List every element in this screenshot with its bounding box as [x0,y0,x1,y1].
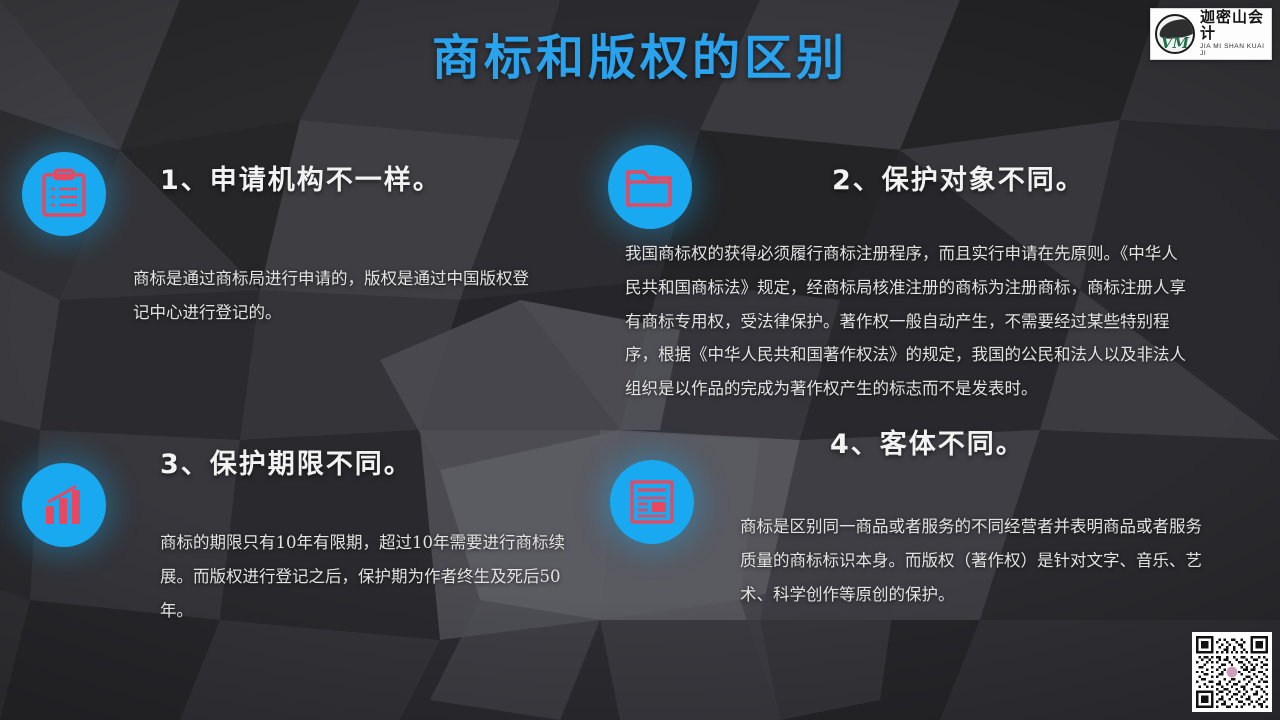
section-4-body: 商标是区别同一商品或者服务的不同经营者并表明商品或者服务质量的商标标识本身。而版… [740,510,1210,611]
section-3-body: 商标的期限只有10年有限期，超过10年需要进行商标续展。而版权进行登记之后，保护… [160,526,580,627]
bar-chart-icon [22,463,106,547]
folder-icon [608,145,692,229]
section-2-heading: 2、保护对象不同。 [832,158,1085,197]
clipboard-checklist-icon [22,152,106,236]
section-2-body: 我国商标权的获得必须履行商标注册程序，而且实行申请在先原则。《中华人民共和国商标… [625,237,1191,406]
qr-code-image [1196,636,1268,708]
article-document-icon [610,460,694,544]
section-1: 1、申请机构不一样。 商标是通过商标局进行申请的，版权是通过中国版权登记中心进行… [0,0,640,360]
qr-code[interactable] [1192,632,1272,712]
section-4: 4、客体不同。 商标是区别同一商品或者服务的不同经营者并表明商品或者服务质量的商… [600,400,1280,720]
section-3: 3、保护期限不同。 商标的期限只有10年有限期，超过10年需要进行商标续展。而版… [0,400,640,720]
section-2: 2、保护对象不同。 我国商标权的获得必须履行商标注册程序，而且实行申请在先原则。… [600,0,1280,400]
section-4-heading: 4、客体不同。 [830,422,1025,461]
section-1-body: 商标是通过商标局进行申请的，版权是通过中国版权登记中心进行登记的。 [133,262,533,330]
section-3-heading: 3、保护期限不同。 [160,442,413,481]
section-1-heading: 1、申请机构不一样。 [160,158,442,197]
slide-canvas: 商标和版权的区别 VM 迦密山会计 JIA MI SHAN KUAI JI [0,0,1280,720]
